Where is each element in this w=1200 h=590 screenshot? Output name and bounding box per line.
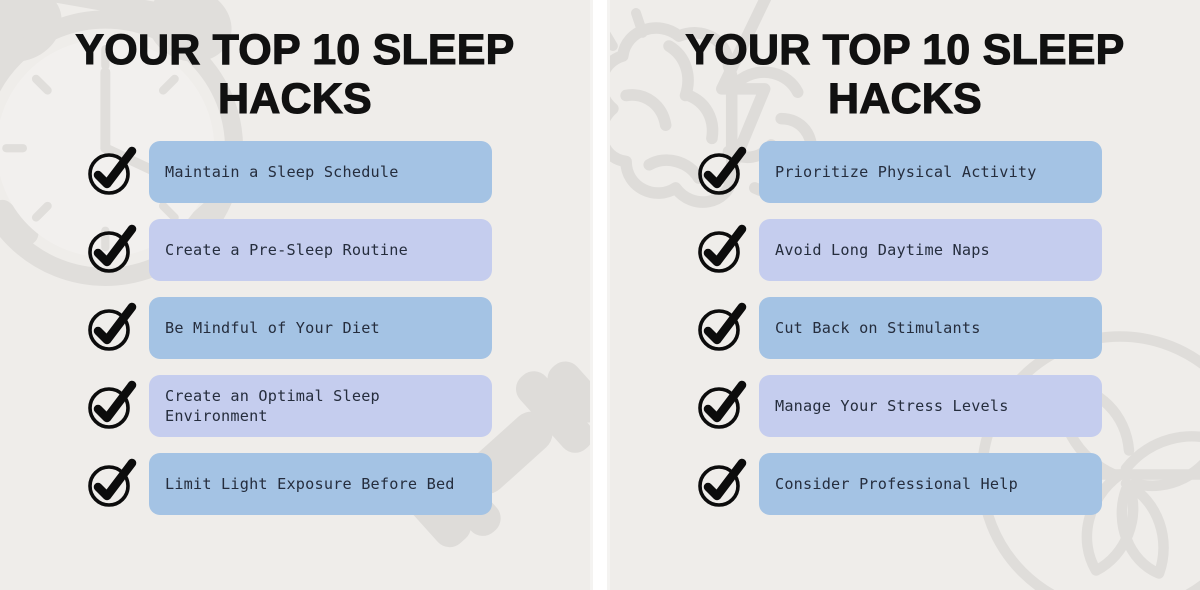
check-circle-icon xyxy=(695,380,747,432)
sleep-hacks-list-left: Maintain a Sleep Schedule Create a Pre-S… xyxy=(0,123,590,515)
hack-label[interactable]: Limit Light Exposure Before Bed xyxy=(149,453,492,515)
panel-divider xyxy=(590,0,610,590)
hack-label[interactable]: Create a Pre-Sleep Routine xyxy=(149,219,492,281)
page-title: YOUR TOP 10 SLEEP HACKS xyxy=(610,0,1200,123)
list-item[interactable]: Create a Pre-Sleep Routine xyxy=(0,219,590,281)
panel-left: YOUR TOP 10 SLEEP HACKS Maintain a Sleep… xyxy=(0,0,590,590)
hack-label[interactable]: Maintain a Sleep Schedule xyxy=(149,141,492,203)
hack-label[interactable]: Manage Your Stress Levels xyxy=(759,375,1102,437)
check-circle-icon xyxy=(695,302,747,354)
check-circle-icon xyxy=(85,224,137,276)
hack-label[interactable]: Consider Professional Help xyxy=(759,453,1102,515)
list-item[interactable]: Manage Your Stress Levels xyxy=(610,375,1200,437)
panel-right: YOUR TOP 10 SLEEP HACKS Prioritize Physi… xyxy=(610,0,1200,590)
hack-label[interactable]: Cut Back on Stimulants xyxy=(759,297,1102,359)
page-title: YOUR TOP 10 SLEEP HACKS xyxy=(0,0,590,123)
check-circle-icon xyxy=(695,224,747,276)
sleep-hacks-list-right: Prioritize Physical Activity Avoid Long … xyxy=(610,123,1200,515)
list-item[interactable]: Maintain a Sleep Schedule xyxy=(0,141,590,203)
list-item[interactable]: Consider Professional Help xyxy=(610,453,1200,515)
check-circle-icon xyxy=(85,302,137,354)
check-circle-icon xyxy=(695,146,747,198)
hack-label[interactable]: Create an Optimal Sleep Environment xyxy=(149,375,492,437)
list-item[interactable]: Avoid Long Daytime Naps xyxy=(610,219,1200,281)
sleep-hacks-board: YOUR TOP 10 SLEEP HACKS Maintain a Sleep… xyxy=(0,0,1200,590)
hack-label[interactable]: Prioritize Physical Activity xyxy=(759,141,1102,203)
check-circle-icon xyxy=(85,380,137,432)
list-item[interactable]: Create an Optimal Sleep Environment xyxy=(0,375,590,437)
hack-label[interactable]: Be Mindful of Your Diet xyxy=(149,297,492,359)
list-item[interactable]: Be Mindful of Your Diet xyxy=(0,297,590,359)
check-circle-icon xyxy=(85,146,137,198)
check-circle-icon xyxy=(695,458,747,510)
list-item[interactable]: Prioritize Physical Activity xyxy=(610,141,1200,203)
list-item[interactable]: Limit Light Exposure Before Bed xyxy=(0,453,590,515)
hack-label[interactable]: Avoid Long Daytime Naps xyxy=(759,219,1102,281)
check-circle-icon xyxy=(85,458,137,510)
list-item[interactable]: Cut Back on Stimulants xyxy=(610,297,1200,359)
